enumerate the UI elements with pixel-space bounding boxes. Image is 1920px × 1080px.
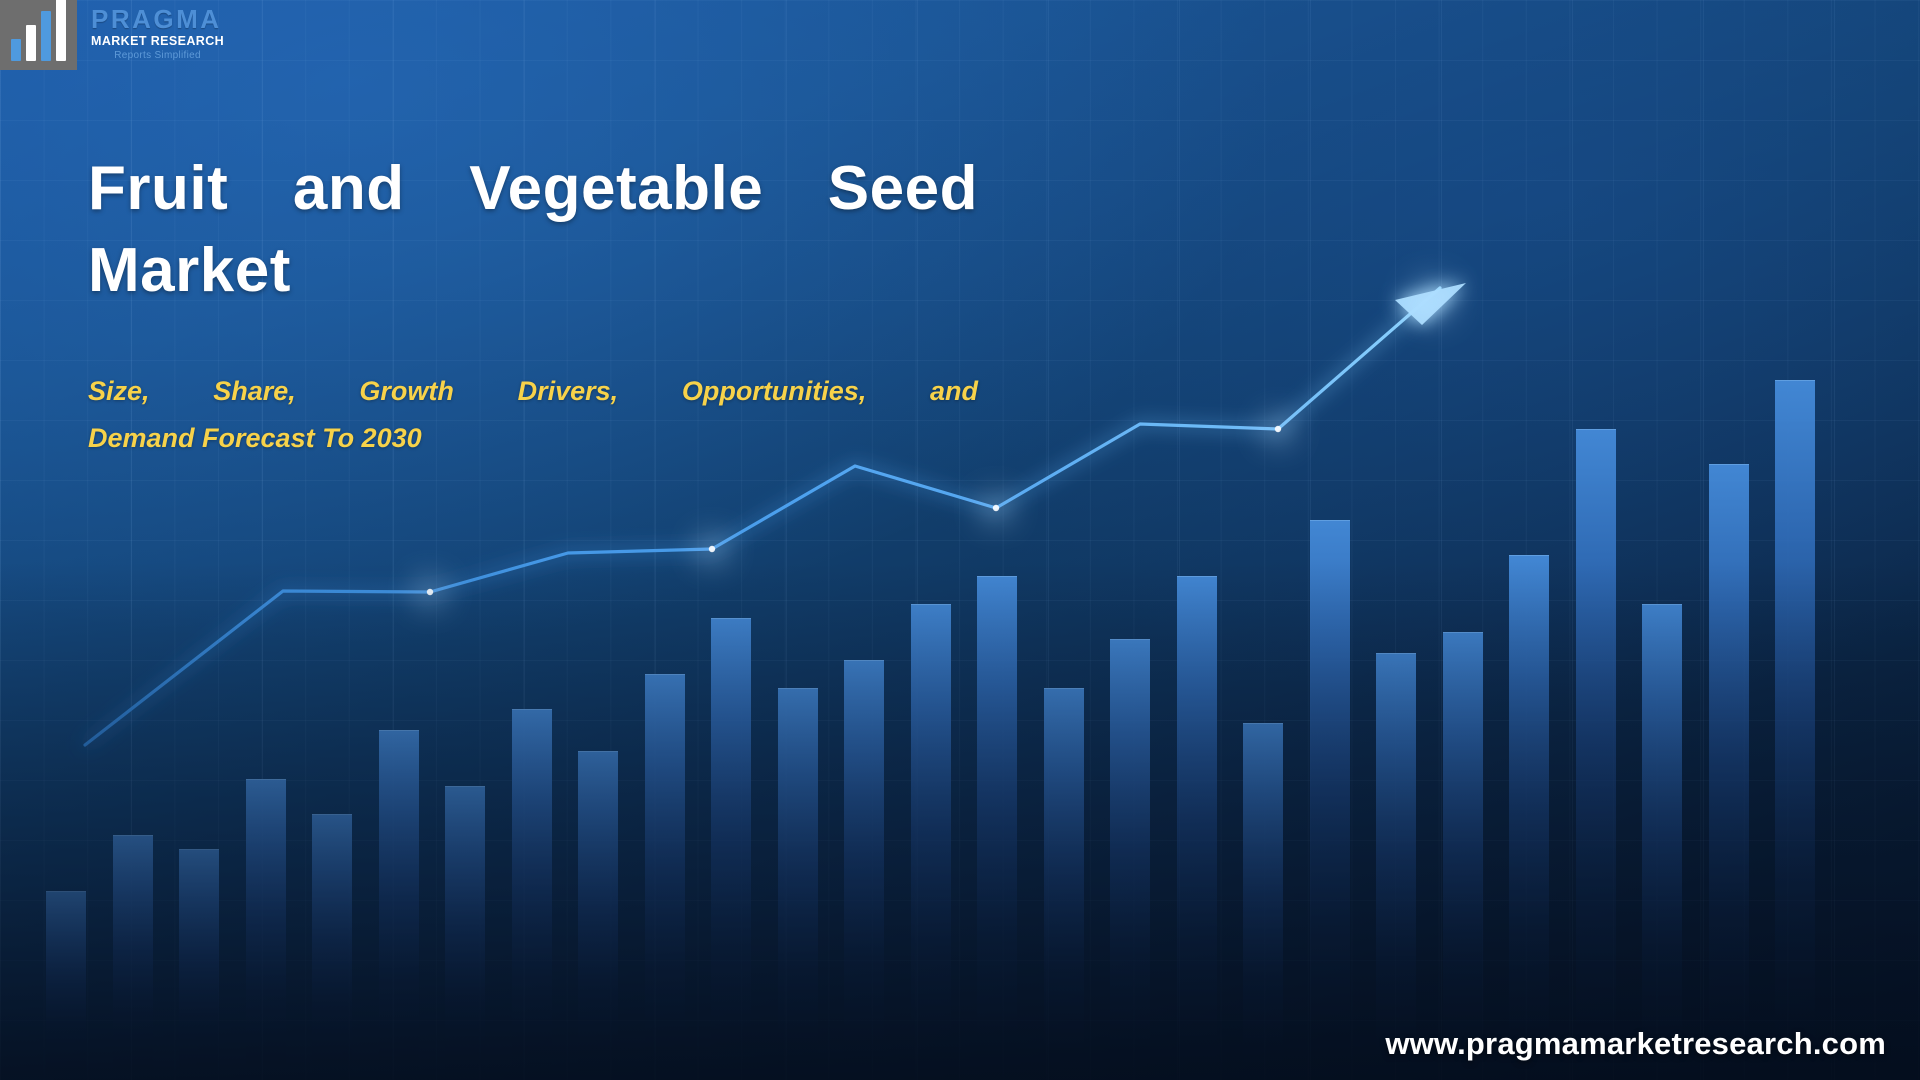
brand-logo[interactable]: PRAGMA MARKET RESEARCH Reports Simplifie… [0,0,224,70]
bar-chart-bar [1775,380,1815,1080]
brand-logo-text: PRAGMA MARKET RESEARCH Reports Simplifie… [77,0,224,61]
bar-chart-bar [578,751,618,1080]
marketing-banner: PRAGMA MARKET RESEARCH Reports Simplifie… [0,0,1920,1080]
bar-chart-bar [1642,604,1682,1080]
brand-tagline: Reports Simplified [91,51,224,61]
bar-chart-bar [778,688,818,1080]
page-title: Fruit and Vegetable Seed Market [88,148,978,312]
bar-chart-bar [445,786,485,1080]
bar-chart-bar [844,660,884,1080]
brand-name: PRAGMA [91,6,224,32]
bar-chart-bar [645,674,685,1080]
bar-chart-bar [977,576,1017,1080]
bar-chart-bar [379,730,419,1080]
bar-chart-bar [1376,653,1416,1080]
bar-chart-bar [711,618,751,1080]
bar-chart-bar [1310,520,1350,1080]
page-subtitle-line-2: Demand Forecast To 2030 [88,415,978,462]
page-subtitle-line-1: Size, Share, Growth Drivers, Opportuniti… [88,368,978,415]
bar-chart-bar [512,709,552,1080]
page-title-line-1: Fruit and Vegetable Seed [88,148,978,230]
bar-chart-bar [911,604,951,1080]
page-title-line-2: Market [88,230,978,312]
bar-chart-bar [1443,632,1483,1080]
bar-chart-bar [1576,429,1616,1080]
brand-subname: MARKET RESEARCH [91,35,224,48]
bar-chart-bar [1110,639,1150,1080]
bar-chart-bar [179,849,219,1080]
bar-chart-logo-icon [0,0,77,70]
bar-chart-bar [1509,555,1549,1080]
bar-chart-bar [1243,723,1283,1080]
bar-chart-bar [1709,464,1749,1080]
bar-chart-bar [312,814,352,1080]
bar-chart-bar [46,891,86,1080]
website-url[interactable]: www.pragmamarketresearch.com [1385,1026,1886,1062]
bar-chart-bar [113,835,153,1080]
page-subtitle: Size, Share, Growth Drivers, Opportuniti… [88,368,978,463]
bar-chart-bar [1044,688,1084,1080]
bar-chart-bar [1177,576,1217,1080]
bar-chart-bar [246,779,286,1080]
